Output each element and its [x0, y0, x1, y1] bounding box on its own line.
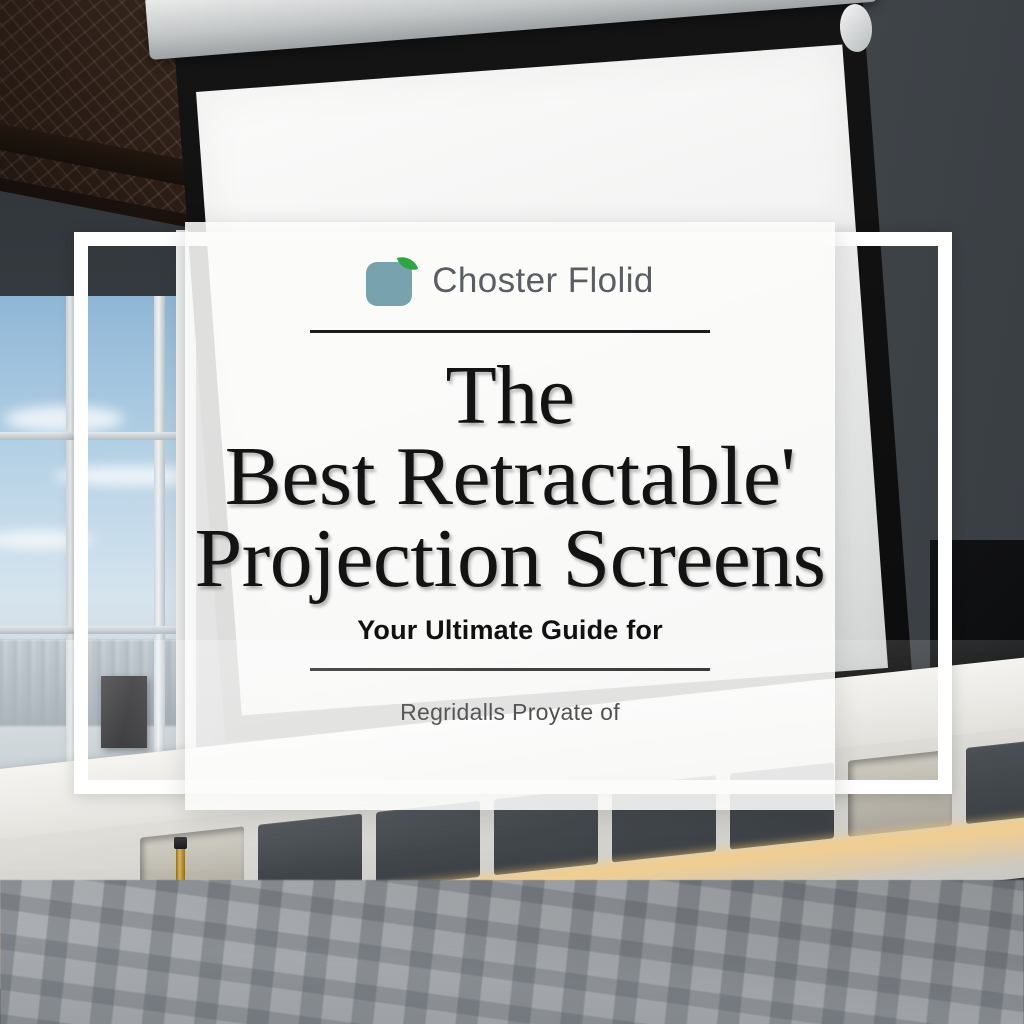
headline-line-1: The	[180, 355, 840, 436]
poster-footnote: Regridalls Proyate of	[400, 699, 620, 726]
credenza-panel	[966, 737, 1024, 824]
poster-canvas: Choster Flolid The Best Retractable' Pro…	[0, 0, 1024, 1024]
poster-content: Choster Flolid The Best Retractable' Pro…	[185, 222, 835, 810]
divider-top	[310, 330, 710, 333]
poster-subtitle: Your Ultimate Guide for	[357, 615, 663, 646]
headline-line-2: Best Retractable'	[173, 436, 846, 517]
brand-logo[interactable]: Choster Flolid	[366, 256, 654, 306]
rounded-square-leaf-logo-icon	[366, 256, 416, 306]
page-title: The Best Retractable' Projection Screens	[180, 355, 840, 599]
credenza-panel	[376, 801, 480, 888]
brand-name: Choster Flolid	[432, 261, 654, 301]
divider-bottom	[310, 668, 710, 671]
carpet-shadow	[0, 880, 1024, 1024]
headline-line-3: Projection Screens	[173, 518, 846, 599]
